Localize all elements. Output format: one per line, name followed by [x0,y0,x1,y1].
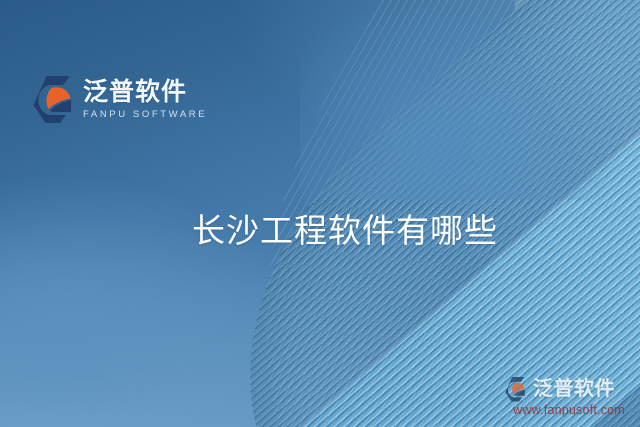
brand-logo: 泛普软件 FANPU SOFTWARE [32,74,207,124]
brand-wordmark: 泛普软件 FANPU SOFTWARE [83,79,207,120]
atmospheric-haze-top [300,0,640,200]
fanpu-hexagon-swoosh-logo-icon [503,376,529,402]
brand-name-en: FANPU SOFTWARE [83,109,207,120]
watermark-lockup: 泛普软件 [503,376,637,402]
brand-name-cn: 泛普软件 [83,79,207,106]
fanpu-hexagon-swoosh-logo-icon [32,74,76,124]
watermark-name-cn: 泛普软件 [533,378,615,400]
watermark-url: www.fanpusoft.com [503,403,635,417]
banner-image: 泛普软件 FANPU SOFTWARE 长沙工程软件有哪些 泛普软件 www.f… [0,0,640,427]
watermark: 泛普软件 www.fanpusoft.com [503,376,637,417]
headline-title: 长沙工程软件有哪些 [0,212,640,252]
